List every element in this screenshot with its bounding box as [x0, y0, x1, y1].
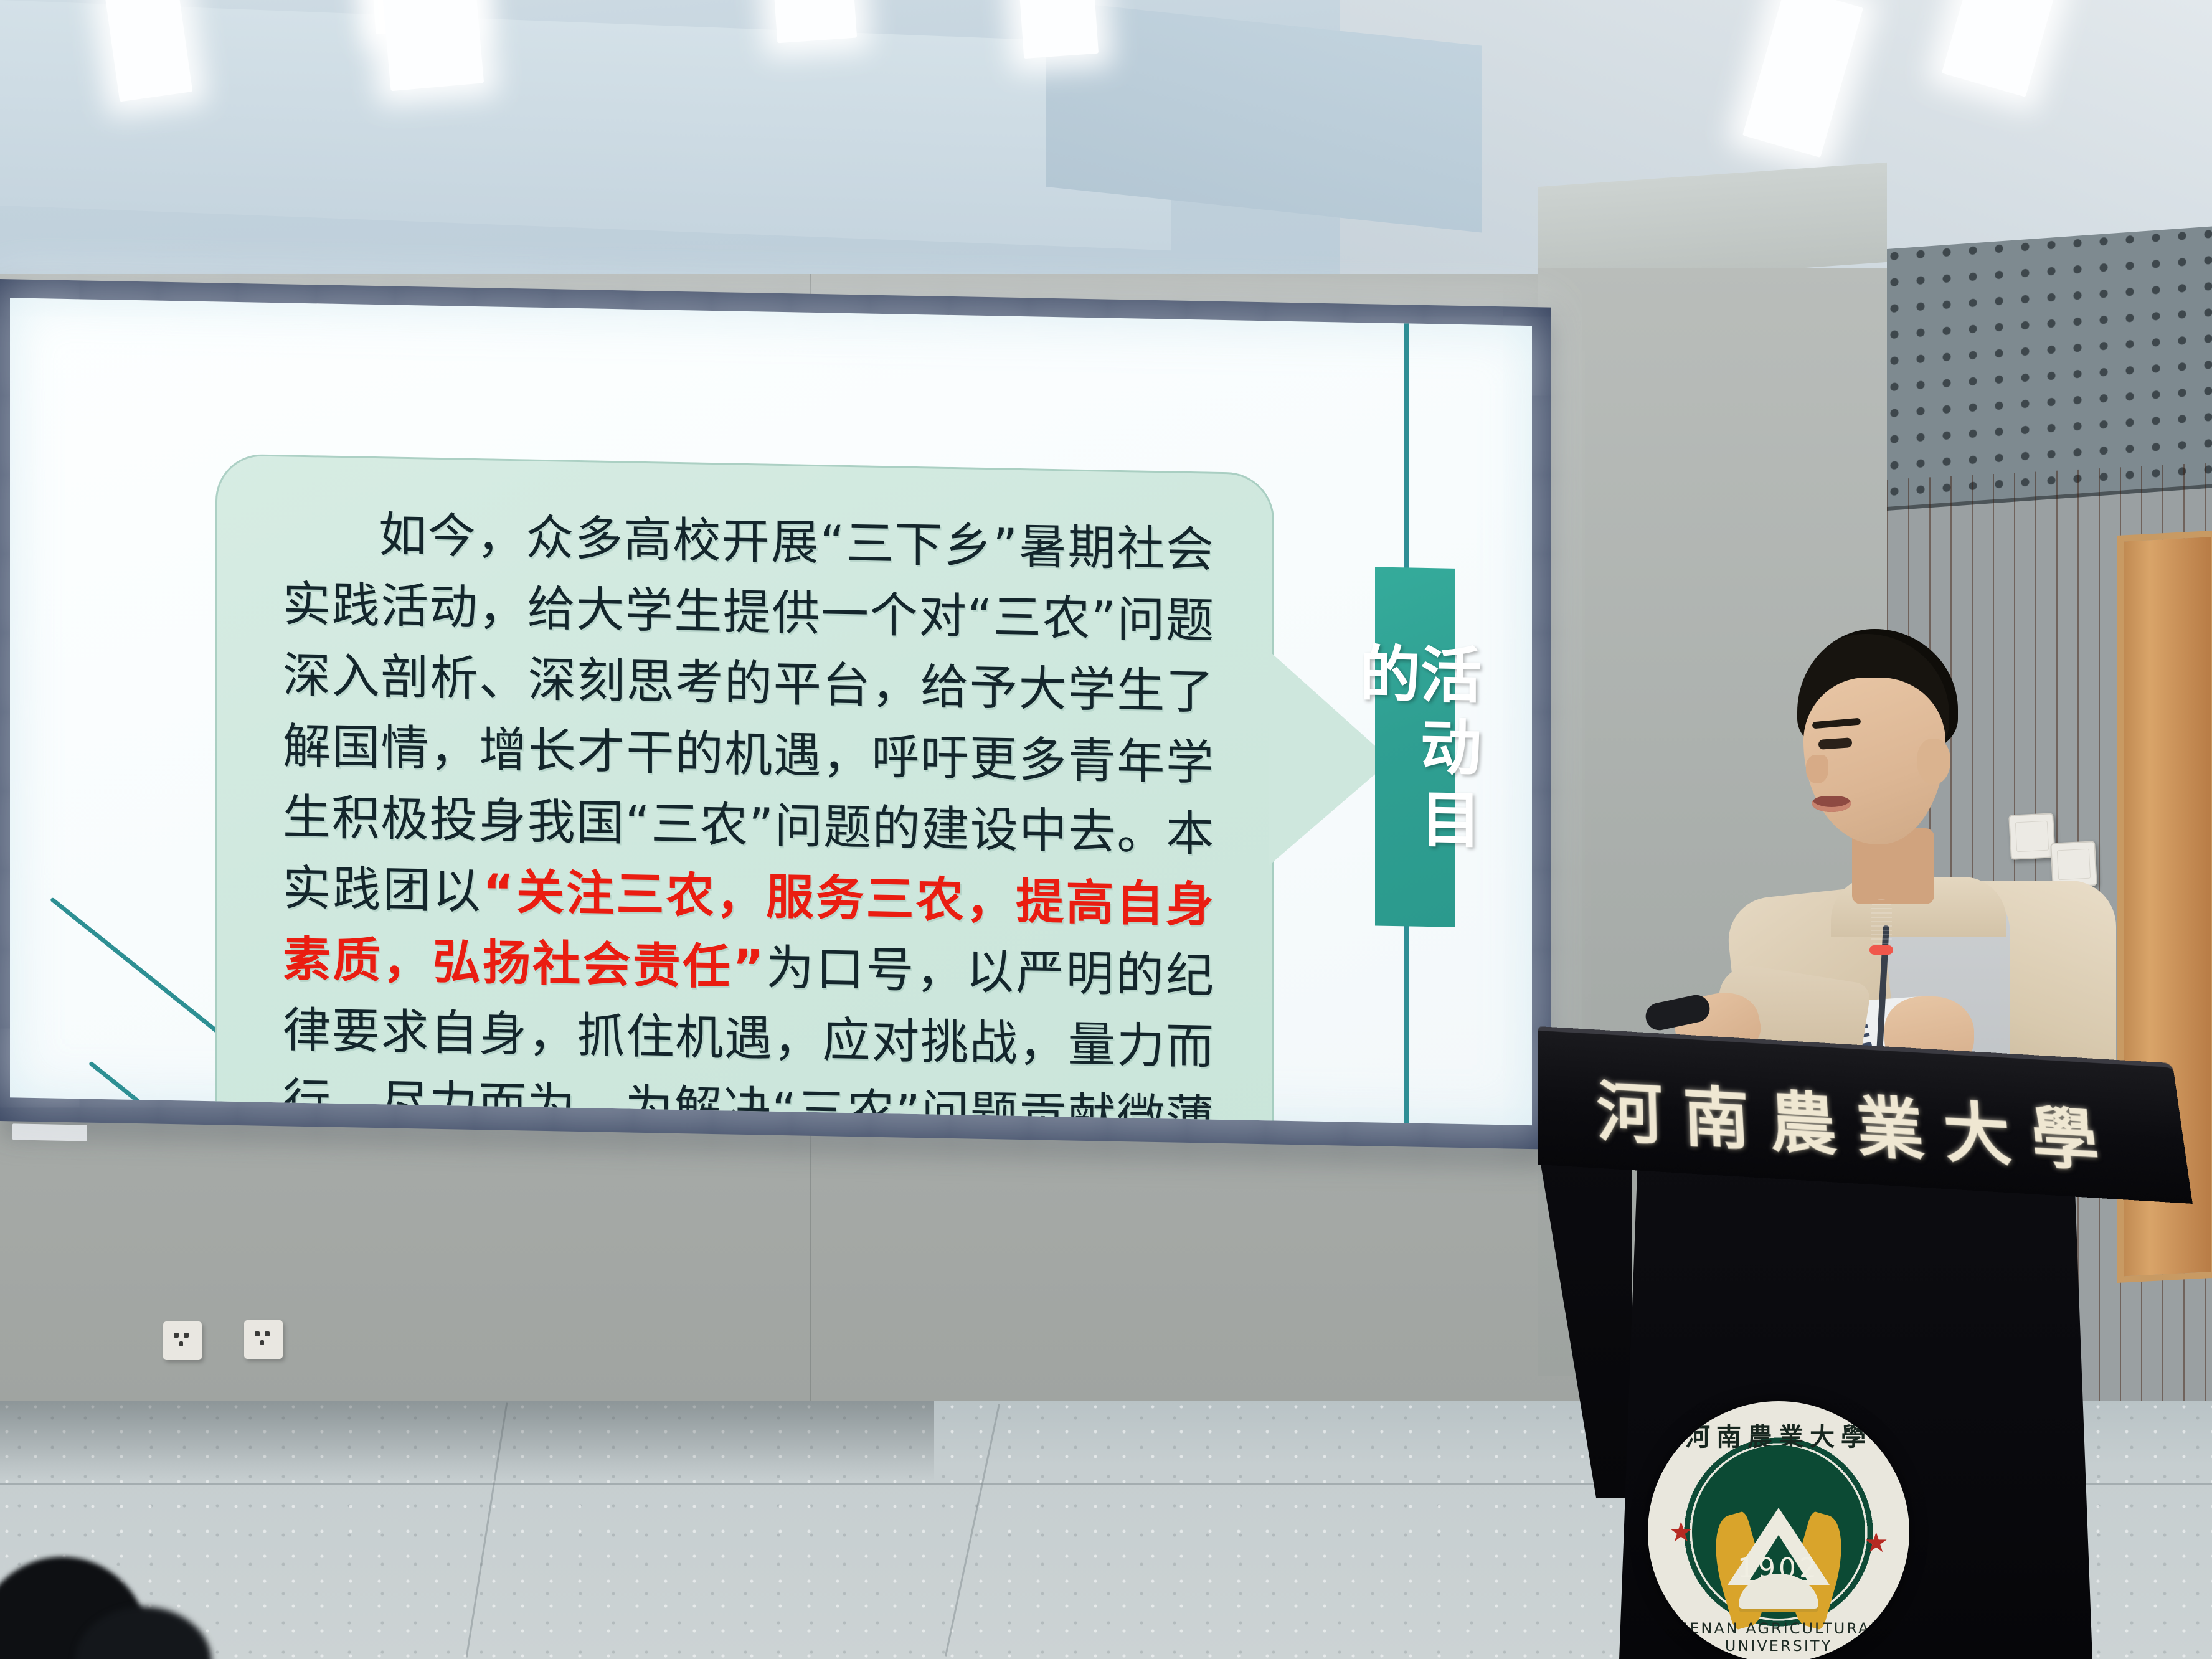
ceiling-light-icon: [773, 0, 857, 43]
microphone-indicator-light: [1869, 945, 1893, 955]
emblem-inner-disc: 1902: [1692, 1445, 1865, 1618]
floor-shadow: [0, 1401, 934, 1482]
podium-engraved-title: 河南農業大學: [1596, 1059, 2171, 1188]
floor-tile-seam: [945, 1404, 1000, 1657]
mouth: [1812, 796, 1851, 812]
slide-paragraph: 如今，众多高校开展“三下乡”暑期社会实践活动，给大学生提供一个对“三农”问题深入…: [283, 498, 1214, 1125]
screen-brand-tag: [12, 1123, 87, 1141]
projection-screen-frame: 如今，众多高校开展“三下乡”暑期社会实践活动，给大学生提供一个对“三农”问题深入…: [0, 279, 1551, 1150]
slide-section-label-text: 活动目的: [1354, 567, 1476, 928]
lecture-hall-scene: 如今，众多高校开展“三下乡”暑期社会实践活动，给大学生提供一个对“三农”问题深入…: [0, 0, 2212, 1659]
microphone-head-icon: [1871, 899, 1892, 948]
ceiling-light-icon: [1019, 0, 1099, 59]
ear: [1917, 739, 1950, 785]
slide-paragraph-intro: 如今，众多高校开展“三下乡”暑期社会实践活动，给大学生提供一个对“三农”问题深入…: [283, 508, 1214, 920]
emblem-english-name: HENAN AGRICULTURAL UNIVERSITY: [1648, 1620, 1909, 1655]
power-outlet[interactable]: [163, 1321, 202, 1360]
projected-slide: 如今，众多高校开展“三下乡”暑期社会实践活动，给大学生提供一个对“三农”问题深入…: [10, 298, 1532, 1125]
slide-section-label: 活动目的: [1375, 567, 1455, 927]
emblem-star-icon: ★: [1669, 1516, 1693, 1548]
presenter: HNIX: [1719, 629, 2117, 1102]
university-emblem: 河南農業大學 ★ ★ 1902 HENAN AGRICULTURAL UNIVE…: [1648, 1401, 1909, 1659]
slide-speech-bubble: 如今，众多高校开展“三下乡”暑期社会实践活动，给大学生提供一个对“三农”问题深入…: [215, 453, 1274, 1125]
ceiling-light-icon: [105, 0, 193, 102]
emblem-star-icon: ★: [1864, 1527, 1888, 1559]
power-outlet[interactable]: [244, 1320, 283, 1359]
nose: [1806, 755, 1828, 783]
ceiling-light-icon: [382, 0, 484, 91]
